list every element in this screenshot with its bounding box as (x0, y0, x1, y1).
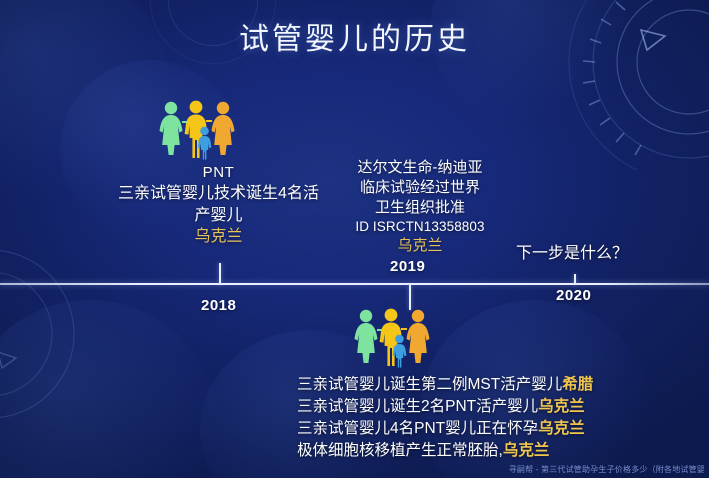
bg-blob (0, 300, 220, 478)
list-item: 三亲试管婴儿诞生2名PNT活产婴儿乌克兰 (297, 396, 627, 418)
timeline-axis (0, 283, 709, 285)
darwin-line-3: 卫生组织批准 (330, 198, 510, 218)
timeline-tick-2018 (219, 263, 221, 285)
slide-canvas: 试管婴儿的历史 (0, 0, 709, 478)
woman-orange-icon (407, 310, 430, 363)
pnt-line-1: 三亲试管婴儿技术诞生4名活 (96, 183, 341, 204)
list-item: 三亲试管婴儿诞生第二例MST活产婴儿希腊 (297, 374, 627, 396)
page-title: 试管婴儿的历史 (0, 14, 709, 58)
darwin-line-1: 达尔文生命-纳迪亚 (330, 158, 510, 178)
bg-arc-icon (0, 248, 110, 418)
timeline-tick-2019 (409, 284, 411, 310)
family-group-pnt (157, 100, 241, 162)
darwin-line-2: 临床试验经过世界 (330, 178, 510, 198)
list-item-country: 希腊 (562, 376, 593, 393)
list-item-text: 三亲试管婴儿诞生2名PNT活产婴儿 (297, 398, 538, 415)
pnt-country: 乌克兰 (96, 226, 341, 247)
darwin-country: 乌克兰 (330, 236, 510, 256)
list-item-country: 乌克兰 (538, 420, 585, 437)
list-item-text: 极体细胞核移植产生正常胚胎, (297, 442, 503, 459)
event-darwin-2019: 达尔文生命-纳迪亚 临床试验经过世界 卫生组织批准 ID ISRCTN13358… (330, 158, 510, 256)
year-label-2019: 2019 (390, 258, 425, 275)
list-item: 三亲试管婴儿4名PNT婴儿正在怀孕乌克兰 (297, 418, 627, 440)
list-item-country: 乌克兰 (503, 442, 550, 459)
year-label-2018: 2018 (201, 297, 236, 314)
timeline-tick-2020 (574, 274, 576, 285)
woman-green-icon (355, 310, 378, 363)
woman-green-icon (160, 102, 183, 155)
darwin-trial-id: ID ISRCTN13358803 (330, 218, 510, 236)
list-item: 极体细胞核移植产生正常胚胎,乌克兰 (297, 440, 627, 462)
event-pnt-2018: PNT 三亲试管婴儿技术诞生4名活 产婴儿 乌克兰 (96, 163, 341, 247)
family-figures-icon (352, 308, 436, 370)
watermark-text: 寻嗣帮 - 第三代试管助孕生子价格多少（附各地试管婴 (509, 464, 705, 475)
woman-orange-icon (212, 102, 235, 155)
next-step-question: 下一步是什么？ (516, 243, 628, 264)
list-item-text: 三亲试管婴儿4名PNT婴儿正在怀孕 (297, 420, 538, 437)
list-item-text: 三亲试管婴儿诞生第二例MST活产婴儿 (297, 376, 562, 393)
event-list-2019: 三亲试管婴儿诞生第二例MST活产婴儿希腊 三亲试管婴儿诞生2名PNT活产婴儿乌克… (297, 374, 627, 462)
pnt-label: PNT (96, 163, 341, 183)
family-group-2019 (352, 308, 436, 370)
pnt-line-2: 产婴儿 (96, 205, 341, 226)
year-label-2020: 2020 (556, 287, 591, 304)
family-figures-icon (157, 100, 241, 162)
list-item-country: 乌克兰 (538, 398, 585, 415)
